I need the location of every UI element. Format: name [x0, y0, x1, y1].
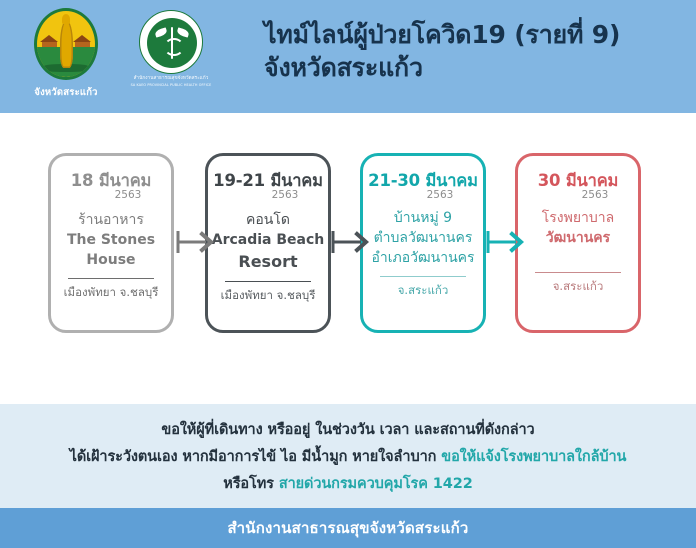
timeline-card-1-place-line1: ร้านอาหาร	[78, 212, 144, 228]
advisory-line-2-highlight: ขอให้แจ้งโรงพยาบาลใกล้บ้าน	[441, 449, 626, 465]
timeline-card-1-year: 2563	[85, 190, 171, 202]
timeline-card-2-date: 19-21 มีนาคม	[208, 172, 328, 189]
timeline-card-2-place-line3: Resort	[208, 250, 328, 273]
timeline-card-4-date: 30 มีนาคม	[518, 172, 638, 189]
province-seal-caption: จังหวัดสระแก้ว	[28, 85, 104, 100]
timeline-arrow-2-icon	[331, 229, 375, 255]
infographic-poster: จังหวัดสระแก้ว สำนักงานสาธารณสุขจังหวัดส…	[0, 0, 696, 548]
timeline-card-1-place-line3: House	[51, 250, 171, 270]
header-banner: จังหวัดสระแก้ว สำนักงานสาธารณสุขจังหวัดส…	[0, 0, 696, 113]
timeline-card-3: 21-30 มีนาคม 2563 บ้านหมู่ 9 ตำบลวัฒนานค…	[360, 153, 486, 333]
advisory-line-1: ขอให้ผู้ที่เดินทาง หรืออยู่ ในช่วงวัน เว…	[0, 417, 696, 444]
timeline-card-3-place-line2: ตำบลวัฒนานคร	[363, 228, 483, 248]
timeline-card-3-place-line1: บ้านหมู่ 9	[394, 210, 452, 226]
advisory-line-3-text: หรือโทร	[223, 476, 279, 492]
page-title-line1: ไทม์ไลน์ผู้ป่วยโควิด19 (รายที่ 9)	[264, 20, 620, 49]
timeline-card-4-place: โรงพยาบาล วัฒนานคร	[518, 208, 638, 249]
timeline-card-4-place-line1: โรงพยาบาล	[542, 210, 615, 226]
page-title: ไทม์ไลน์ผู้ป่วยโควิด19 (รายที่ 9) จังหวั…	[264, 18, 682, 84]
ministry-caption-en: SA KAEO PROVINCIAL PUBLIC HEALTH OFFICE	[122, 83, 220, 88]
timeline-card-1-divider	[68, 278, 154, 279]
timeline-card-3-year: 2563	[397, 190, 483, 202]
timeline-section: 18 มีนาคม 2563 ร้านอาหาร The Stones Hous…	[0, 113, 696, 404]
timeline-card-2-province: เมืองพัทยา จ.ชลบุรี	[208, 287, 328, 305]
timeline-card-3-place-line3: อำเภอวัฒนานคร	[363, 248, 483, 268]
timeline-card-2-place-line1: คอนโด	[246, 212, 290, 228]
ministry-of-public-health-logo-icon: สำนักงานสาธารณสุขจังหวัดสระแก้ว SA KAEO …	[132, 10, 210, 88]
timeline-card-4-year: 2563	[552, 190, 638, 202]
timeline-arrow-3-icon	[486, 229, 530, 255]
advisory-line-3: หรือโทร สายด่วนกรมควบคุมโรค 1422	[0, 471, 696, 498]
timeline-card-1-place-line2: The Stones	[51, 230, 171, 250]
advisory-hotline-highlight: สายด่วนกรมควบคุมโรค 1422	[279, 476, 473, 492]
timeline-arrow-1-icon	[176, 229, 220, 255]
timeline-card-3-place: บ้านหมู่ 9 ตำบลวัฒนานคร อำเภอวัฒนานคร	[363, 208, 483, 269]
timeline-card-3-divider	[380, 276, 466, 277]
timeline-card-2: 19-21 มีนาคม 2563 คอนโด Arcadia Beach Re…	[205, 153, 331, 333]
page-title-line2: จังหวัดสระแก้ว	[264, 51, 682, 84]
timeline-card-1-date: 18 มีนาคม	[51, 172, 171, 189]
timeline-card-2-year: 2563	[242, 190, 328, 202]
sa-kaeo-province-seal-icon: จังหวัดสระแก้ว	[28, 8, 104, 84]
ministry-caption: สำนักงานสาธารณสุขจังหวัดสระแก้ว SA KAEO …	[122, 76, 220, 88]
footer-text: สำนักงานสาธารณสุขจังหวัดสระแก้ว	[227, 516, 468, 540]
timeline-card-3-date: 21-30 มีนาคม	[363, 172, 483, 189]
timeline-card-2-divider	[225, 281, 311, 282]
timeline-card-1: 18 มีนาคม 2563 ร้านอาหาร The Stones Hous…	[48, 153, 174, 333]
timeline-card-1-province: เมืองพัทยา จ.ชลบุรี	[51, 284, 171, 302]
timeline-card-2-place: คอนโด Arcadia Beach Resort	[208, 210, 328, 274]
timeline-card-4: 30 มีนาคม 2563 โรงพยาบาล วัฒนานคร จ.สระแ…	[515, 153, 641, 333]
advisory-line-2: ได้เฝ้าระวังตนเอง หากมีอาการไข้ ไอ มีน้ำ…	[0, 444, 696, 471]
ministry-caption-th: สำนักงานสาธารณสุขจังหวัดสระแก้ว	[122, 76, 220, 83]
timeline-card-4-divider	[535, 272, 621, 273]
timeline-card-3-province: จ.สระแก้ว	[363, 282, 483, 300]
timeline-card-1-place: ร้านอาหาร The Stones House	[51, 210, 171, 271]
timeline-card-2-place-line2: Arcadia Beach	[208, 230, 328, 250]
advisory-line-2-text: ได้เฝ้าระวังตนเอง หากมีอาการไข้ ไอ มีน้ำ…	[70, 449, 442, 465]
timeline-card-4-place-line2: วัฒนานคร	[518, 228, 638, 248]
footer-bar: สำนักงานสาธารณสุขจังหวัดสระแก้ว	[0, 508, 696, 548]
logo-block: จังหวัดสระแก้ว สำนักงานสาธารณสุขจังหวัดส…	[24, 6, 244, 110]
timeline-card-4-province: จ.สระแก้ว	[518, 278, 638, 296]
advisory-section: ขอให้ผู้ที่เดินทาง หรืออยู่ ในช่วงวัน เว…	[0, 404, 696, 508]
